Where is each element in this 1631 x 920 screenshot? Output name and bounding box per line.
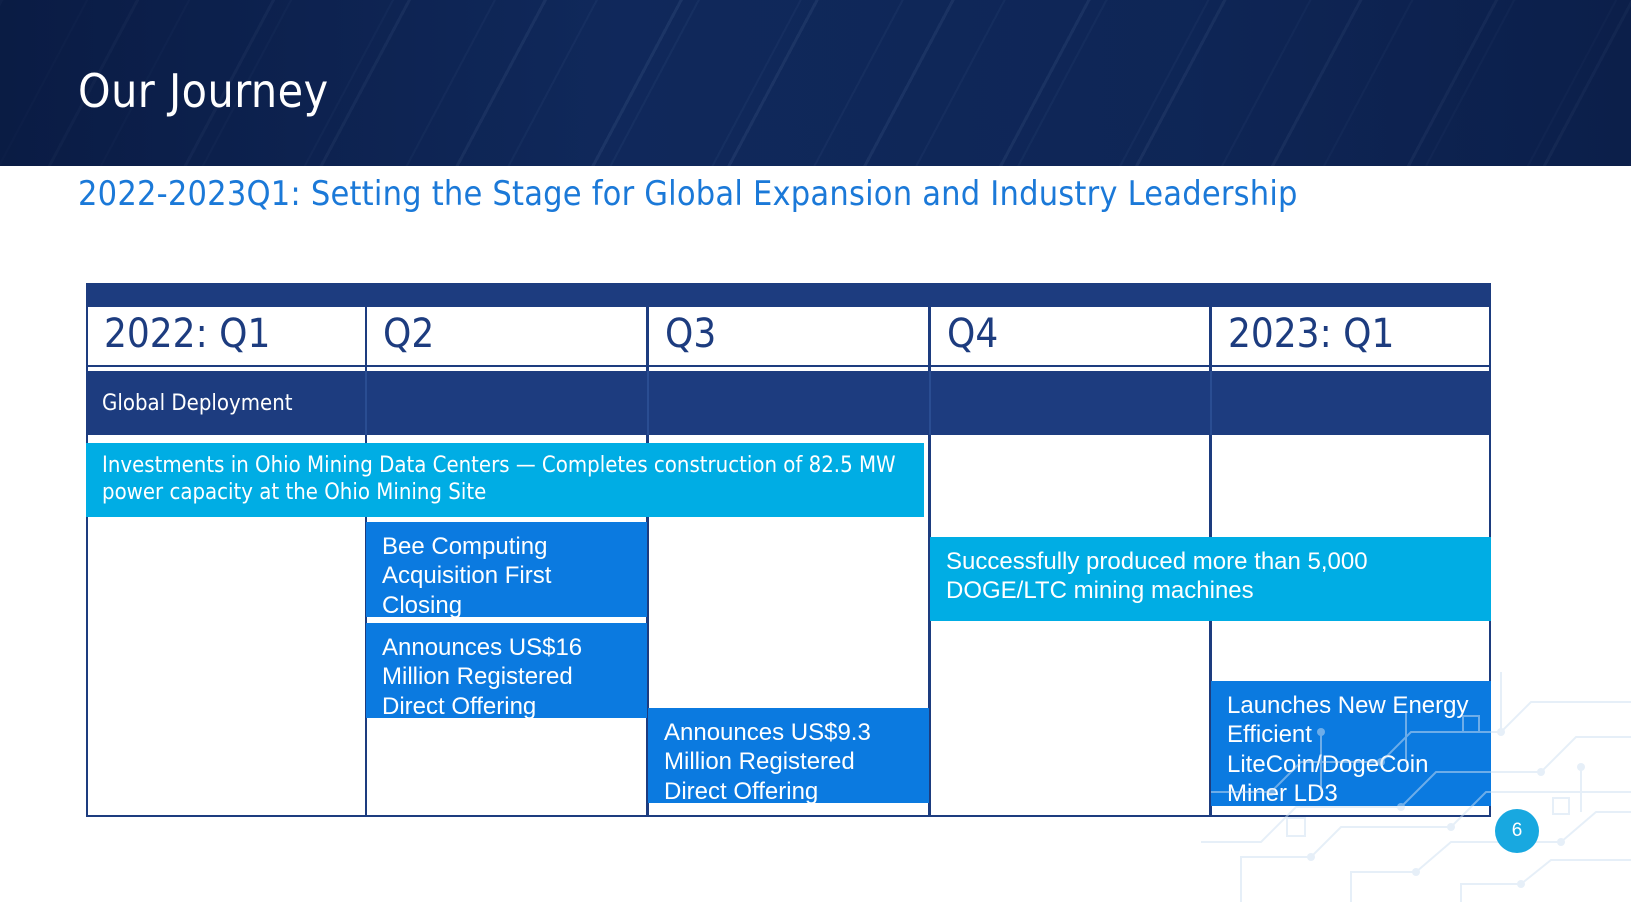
slide-root: Our Journey 2022-2023Q1: Setting the Sta… (0, 0, 1631, 920)
page-number-badge: 6 (1495, 809, 1539, 853)
event-offering-93m-text: Announces US$9.3 Million Registered Dire… (664, 718, 919, 806)
hero-banner: Our Journey (0, 0, 1631, 166)
event-ohio-mining[interactable]: Investments in Ohio Mining Data Centers … (86, 443, 924, 517)
event-doge-ltc-machines[interactable]: Successfully produced more than 5,000 DO… (930, 537, 1491, 621)
column-header-label: 2022: Q1 (104, 311, 270, 357)
event-bee-computing-text: Bee Computing Acquisition First Closing (382, 532, 637, 620)
column-header-1: 2022: Q1 (88, 307, 365, 367)
circuit-watermark-icon (1201, 672, 1631, 902)
event-offering-16m[interactable]: Announces US$16 Million Registered Direc… (366, 623, 647, 718)
slide-bottom-bar (0, 914, 1631, 920)
slide-subtitle: 2022-2023Q1: Setting the Stage for Globa… (78, 174, 1298, 214)
page-title: Our Journey (78, 64, 329, 118)
column-header-label: Q2 (383, 311, 434, 357)
column-header-2: Q2 (367, 307, 646, 367)
event-doge-ltc-machines-text: Successfully produced more than 5,000 DO… (946, 547, 1481, 606)
column-header-label: Q3 (665, 311, 716, 357)
band-divider (1210, 371, 1212, 435)
column-header-5: 2023: Q1 (1212, 307, 1489, 367)
band-divider (365, 371, 367, 435)
column-header-label: 2023: Q1 (1228, 311, 1394, 357)
event-offering-16m-text: Announces US$16 Million Registered Direc… (382, 633, 637, 721)
event-bee-computing[interactable]: Bee Computing Acquisition First Closing (366, 522, 647, 617)
column-header-3: Q3 (649, 307, 928, 367)
band-divider (929, 371, 931, 435)
column-header-label: Q4 (947, 311, 998, 357)
band-divider (647, 371, 649, 435)
column-header-4: Q4 (931, 307, 1209, 367)
global-deployment-band: Global Deployment (86, 371, 1491, 435)
event-ohio-mining-text: Investments in Ohio Mining Data Centers … (102, 453, 914, 507)
table-top-strip (86, 283, 1491, 307)
global-deployment-label: Global Deployment (102, 391, 293, 416)
event-offering-93m[interactable]: Announces US$9.3 Million Registered Dire… (648, 708, 929, 803)
